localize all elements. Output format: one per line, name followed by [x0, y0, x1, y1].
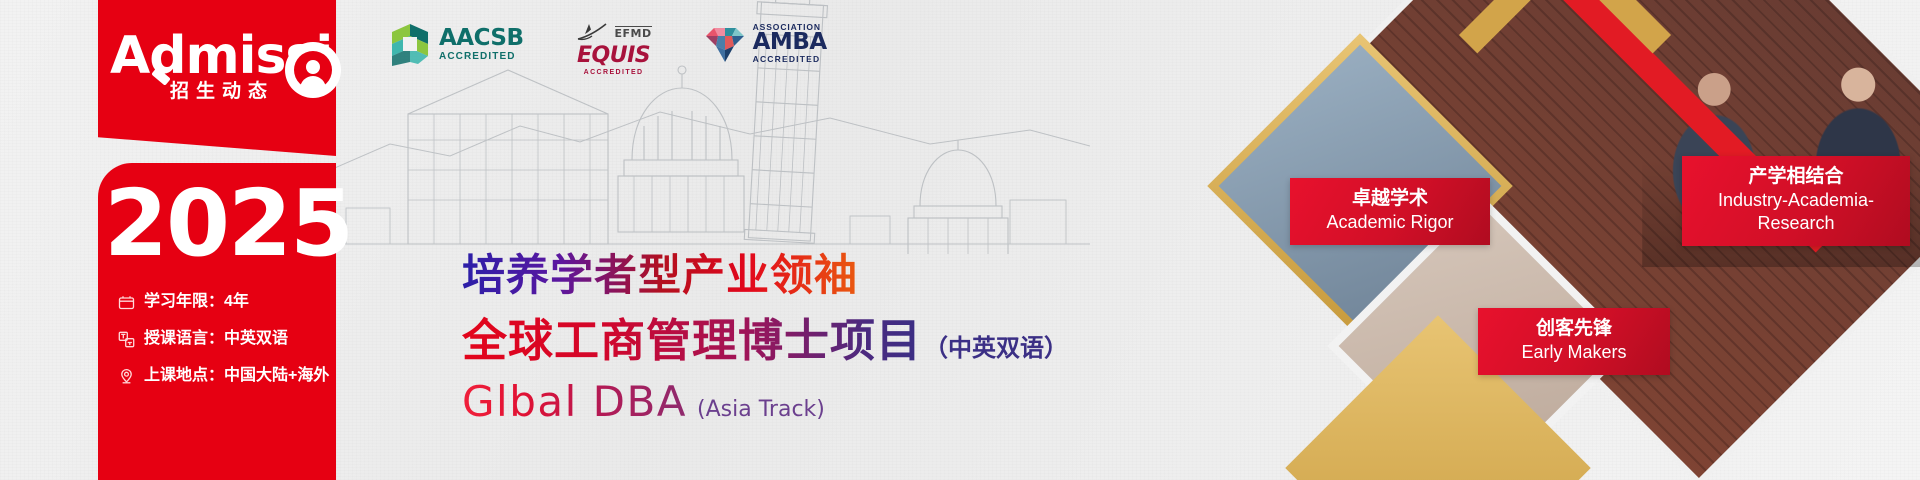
headline-program-title: 全球工商管理博士项目	[462, 314, 922, 368]
aacsb-cube-icon	[388, 22, 432, 66]
admission-circle-person-mark	[285, 42, 341, 98]
info-row-location-label: 上课地点：中国大陆+海外	[144, 366, 329, 386]
info-row-location: 上课地点：中国大陆+海外	[118, 366, 348, 386]
admission-banner: Admissi 招生动态 2025 学习年限：4年	[0, 0, 1920, 480]
amba-subtitle: ACCREDITED	[753, 55, 827, 64]
amba-diamond-icon	[704, 22, 746, 64]
badge-early-makers-en: Early Makers	[1494, 341, 1654, 364]
equis-subtitle: ACCREDITED	[584, 69, 644, 76]
language-icon	[118, 331, 135, 348]
badge-industry-academia-en: Industry-Academia-Research	[1698, 189, 1894, 235]
accreditation-aacsb: AACSB ACCREDITED	[388, 22, 524, 66]
badge-academic-rigor-cn: 卓越学术	[1306, 187, 1474, 211]
aacsb-name: AACSB	[439, 27, 524, 50]
info-row-duration: 学习年限：4年	[118, 292, 348, 312]
headline-bilingual-tag: （中英双语）	[924, 328, 1068, 363]
admission-logo-chinese: 招生动态	[170, 76, 274, 103]
badge-early-makers-cn: 创客先锋	[1494, 317, 1654, 341]
calendar-icon	[118, 294, 135, 311]
info-row-duration-label: 学习年限：4年	[144, 292, 249, 312]
equis-name: EQUIS	[577, 45, 650, 67]
headline-english-subtitle: (Asia Track)	[697, 397, 825, 422]
badge-early-makers: 创客先锋 Early Makers	[1478, 308, 1670, 375]
equis-swoosh-icon	[576, 22, 610, 42]
badge-industry-academia: 产学相结合 Industry-Academia-Research	[1682, 156, 1910, 246]
location-icon	[118, 368, 135, 385]
badge-academic-rigor-en: Academic Rigor	[1306, 211, 1474, 234]
accreditation-logos: AACSB ACCREDITED EFMD EQUIS ACCREDITED	[388, 22, 827, 74]
badge-industry-academia-cn: 产学相结合	[1698, 165, 1894, 189]
admission-logo: Admissi 招生动态	[110, 28, 360, 114]
year-label: 2025	[104, 178, 334, 270]
equis-efmd-label: EFMD	[615, 26, 652, 39]
person-glyph-icon	[306, 60, 320, 74]
photo-collage: 卓越学术 Academic Rigor 产学相结合 Industry-Acade…	[1160, 0, 1920, 480]
aacsb-subtitle: ACCREDITED	[439, 52, 524, 62]
headline-slogan: 培养学者型产业领袖	[462, 250, 1068, 302]
amba-name: AMBA	[753, 31, 827, 54]
headline-block: 培养学者型产业领袖 全球工商管理博士项目 （中英双语） Glbal DBA (A…	[462, 250, 1068, 426]
headline-english-title: Glbal DBA	[462, 378, 687, 426]
accreditation-equis: EFMD EQUIS ACCREDITED	[576, 22, 652, 76]
program-info-list: 学习年限：4年 授课语言：中英双语 上课地点：中国大陆+海外	[118, 292, 348, 403]
accreditation-amba: ASSOCIATION AMBA ACCREDITED	[704, 22, 827, 64]
badge-academic-rigor: 卓越学术 Academic Rigor	[1290, 178, 1490, 245]
info-row-language: 授课语言：中英双语	[118, 329, 348, 349]
info-row-language-label: 授课语言：中英双语	[144, 329, 288, 349]
